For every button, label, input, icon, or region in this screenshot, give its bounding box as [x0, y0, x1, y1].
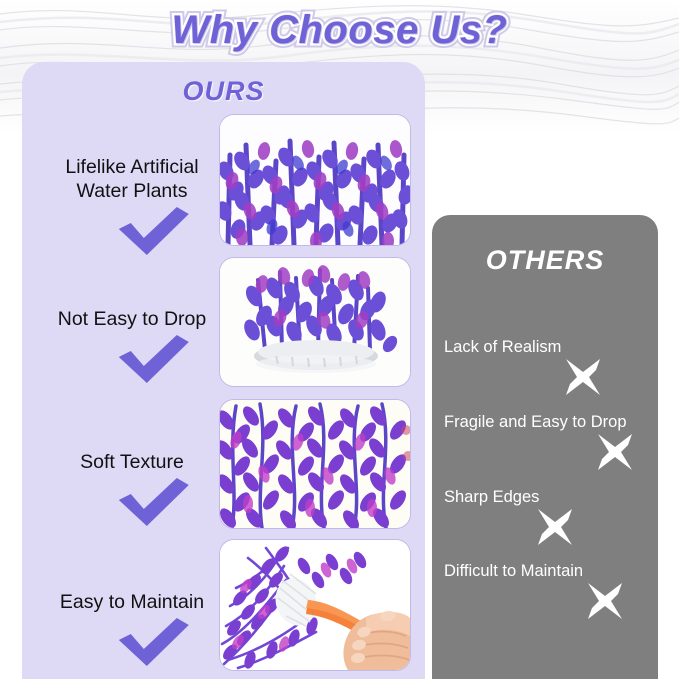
others-drawback-3-cross	[432, 507, 658, 547]
page-title: Why Choose Us?	[0, 6, 679, 54]
comparison-infographic: Why Choose Us? Why Choose Us? OURS Lifel…	[0, 0, 679, 679]
others-drawback-2-label: Fragile and Easy to Drop	[432, 412, 658, 432]
others-drawback-4: Difficult to Maintain	[432, 561, 658, 621]
check-mark-icon	[107, 333, 197, 385]
ours-feature-4-line1: Easy to Maintain	[60, 591, 204, 613]
check-mark-icon	[107, 476, 197, 528]
cross-mark-icon	[532, 507, 578, 547]
ours-feature-1: Lifelike Artificial Water Plants	[32, 155, 232, 257]
cross-mark-icon	[582, 581, 628, 621]
cross-mark-icon	[592, 432, 638, 472]
others-drawback-1-cross	[432, 357, 658, 397]
cross-mark-icon	[560, 357, 606, 397]
ours-feature-3-line1: Soft Texture	[80, 451, 184, 473]
ours-thumbnail-4	[220, 540, 410, 670]
others-drawback-2: Fragile and Easy to Drop	[432, 412, 658, 472]
others-drawback-3: Sharp Edges	[432, 487, 658, 547]
ours-feature-1-line1: Lifelike Artificial	[65, 156, 198, 178]
ours-feature-4-label: Easy to Maintain	[32, 590, 232, 614]
ours-feature-2-label: Not Easy to Drop	[32, 307, 232, 331]
ours-feature-2-line1: Not Easy to Drop	[58, 308, 206, 330]
check-mark-icon	[107, 205, 197, 257]
ours-feature-1-check	[32, 205, 232, 257]
others-drawback-2-cross	[432, 432, 658, 472]
others-panel: OTHERS Lack of Realism Fragile and Easy …	[432, 215, 658, 679]
ours-thumbnail-1	[220, 115, 410, 245]
ours-feature-2: Not Easy to Drop	[32, 307, 232, 385]
ours-feature-3-check	[32, 476, 232, 528]
ours-panel: OURS Lifelike Artificial Water Plants No…	[22, 62, 425, 679]
ours-feature-3-label: Soft Texture	[32, 450, 232, 474]
others-drawback-4-cross	[432, 581, 658, 621]
others-heading: OTHERS	[432, 245, 658, 276]
others-drawback-1: Lack of Realism	[432, 337, 658, 397]
ours-feature-1-line2: Water Plants	[77, 180, 188, 202]
ours-feature-4-check	[32, 616, 232, 668]
ours-thumbnail-3	[220, 400, 410, 528]
ours-heading: OURS	[22, 76, 425, 107]
ours-thumbnail-2	[220, 258, 410, 386]
ours-feature-2-check	[32, 333, 232, 385]
ours-feature-3: Soft Texture	[32, 450, 232, 528]
others-drawback-4-label: Difficult to Maintain	[432, 561, 658, 581]
ours-feature-4: Easy to Maintain	[32, 590, 232, 668]
others-drawback-1-label: Lack of Realism	[432, 337, 658, 357]
ours-feature-1-label: Lifelike Artificial Water Plants	[32, 155, 232, 203]
check-mark-icon	[107, 616, 197, 668]
others-drawback-3-label: Sharp Edges	[432, 487, 658, 507]
